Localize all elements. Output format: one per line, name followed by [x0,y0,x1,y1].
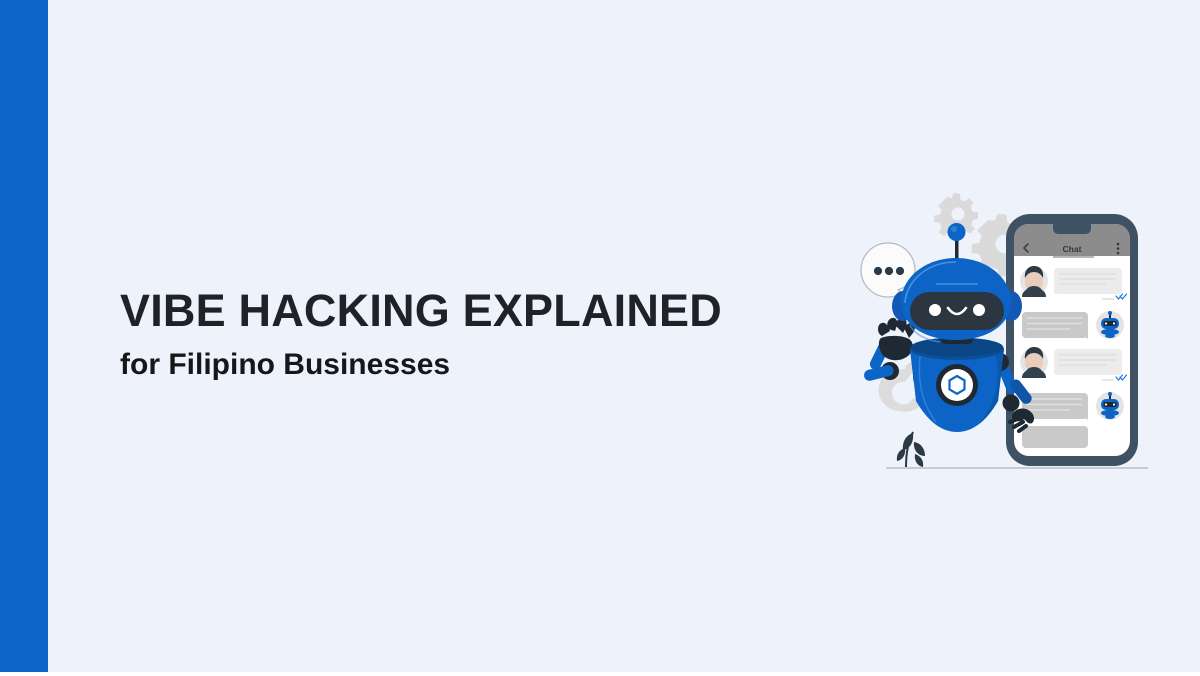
slide-canvas: VIBE HACKING EXPLAINED for Filipino Busi… [0,0,1200,676]
page-subtitle: for Filipino Businesses [120,348,760,382]
more-vertical-icon [1117,243,1120,255]
page-title: VIBE HACKING EXPLAINED [120,286,760,336]
hero-illustration: Chat [848,186,1160,486]
robot-body [910,338,1008,435]
plant-icon [897,432,925,467]
chat-message-row [1022,392,1124,420]
brand-accent-bar [0,0,48,672]
chat-message-row [1022,311,1124,339]
bottom-white-strip [0,672,1200,676]
robot-hand [878,318,915,360]
headline-block: VIBE HACKING EXPLAINED for Filipino Busi… [120,286,760,382]
phone-chat-title: Chat [1063,244,1082,254]
